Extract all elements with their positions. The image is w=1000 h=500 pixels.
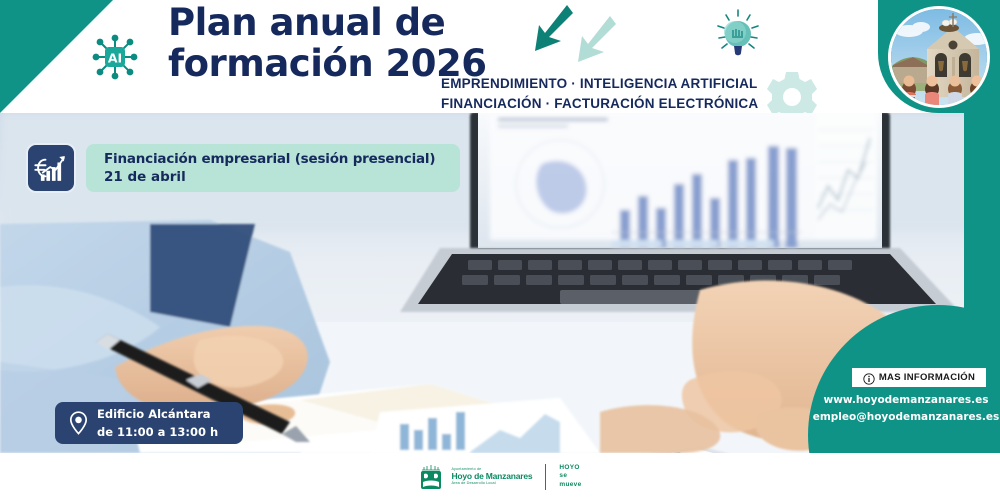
village-photo-circle: [888, 6, 990, 108]
village-photo-badge: [878, 0, 1000, 113]
location-box: Edificio Alcántara de 11:00 a 13:00 h: [55, 402, 243, 444]
banner-topics: EMPRENDIMIENTO · INTELIGENCIA ARTIFICIAL…: [441, 74, 758, 113]
promotional-banner: MAS INFORMACIÓN www.hoyodemanzanares.es …: [0, 0, 1000, 500]
header-band: AI Plan anual de formación 2026 EMPRENDI…: [0, 0, 1000, 113]
hoyo-de-manzanares-crest-icon: [418, 463, 444, 491]
venue-schedule: de 11:00 a 13:00 h: [97, 425, 218, 439]
logo-divider: [545, 464, 546, 490]
session-date: 21 de abril: [104, 168, 460, 186]
lightbulb-idea-icon: [714, 8, 762, 66]
municipality-text: Ayuntamiento de Hoyo de Manzanares Área …: [451, 468, 532, 486]
slogan-line-2: se: [559, 472, 581, 480]
title-line-1: Plan anual de: [168, 2, 498, 43]
euro-growth-chart-icon: [26, 143, 76, 193]
session-title: Financiación empresarial (sesión presenc…: [104, 150, 460, 168]
more-info-label: MAS INFORMACIÓN: [879, 372, 975, 383]
location-text: Edificio Alcántara de 11:00 a 13:00 h: [97, 405, 218, 441]
institutional-logo: Ayuntamiento de Hoyo de Manzanares Área …: [418, 463, 581, 491]
website-link[interactable]: www.hoyodemanzanares.es: [812, 392, 1000, 409]
session-info-pill: Financiación empresarial (sesión presenc…: [86, 144, 460, 192]
topics-line-2: FINANCIACIÓN · FACTURACIÓN ELECTRÓNICA: [441, 94, 758, 113]
contact-links: www.hoyodemanzanares.es empleo@hoyodeman…: [812, 392, 1000, 426]
org-name: Hoyo de Manzanares: [451, 472, 532, 481]
gear-icon: [764, 70, 820, 113]
slogan-line-1: HOYO: [559, 464, 581, 472]
ai-badge-text: AI: [108, 51, 122, 66]
org-department: Área de Desarrollo Local: [451, 482, 532, 486]
slogan-line-3: mueve: [559, 481, 581, 489]
arrow-down-left-dark-icon: [527, 3, 575, 55]
slogan-text: HOYO se mueve: [559, 464, 581, 488]
map-pin-icon: [69, 411, 88, 435]
ai-network-icon: AI: [88, 30, 142, 84]
venue-name: Edificio Alcántara: [97, 407, 211, 421]
banner-title: Plan anual de formación 2026: [168, 2, 498, 84]
more-info-badge[interactable]: MAS INFORMACIÓN: [852, 368, 986, 387]
topics-line-1: EMPRENDIMIENTO · INTELIGENCIA ARTIFICIAL: [441, 74, 758, 94]
email-link[interactable]: empleo@hoyodemanzanares.es: [812, 409, 1000, 426]
footer-bar: Ayuntamiento de Hoyo de Manzanares Área …: [0, 453, 1000, 500]
info-circle-icon: [863, 372, 875, 384]
arrow-down-left-light-icon: [570, 14, 618, 66]
